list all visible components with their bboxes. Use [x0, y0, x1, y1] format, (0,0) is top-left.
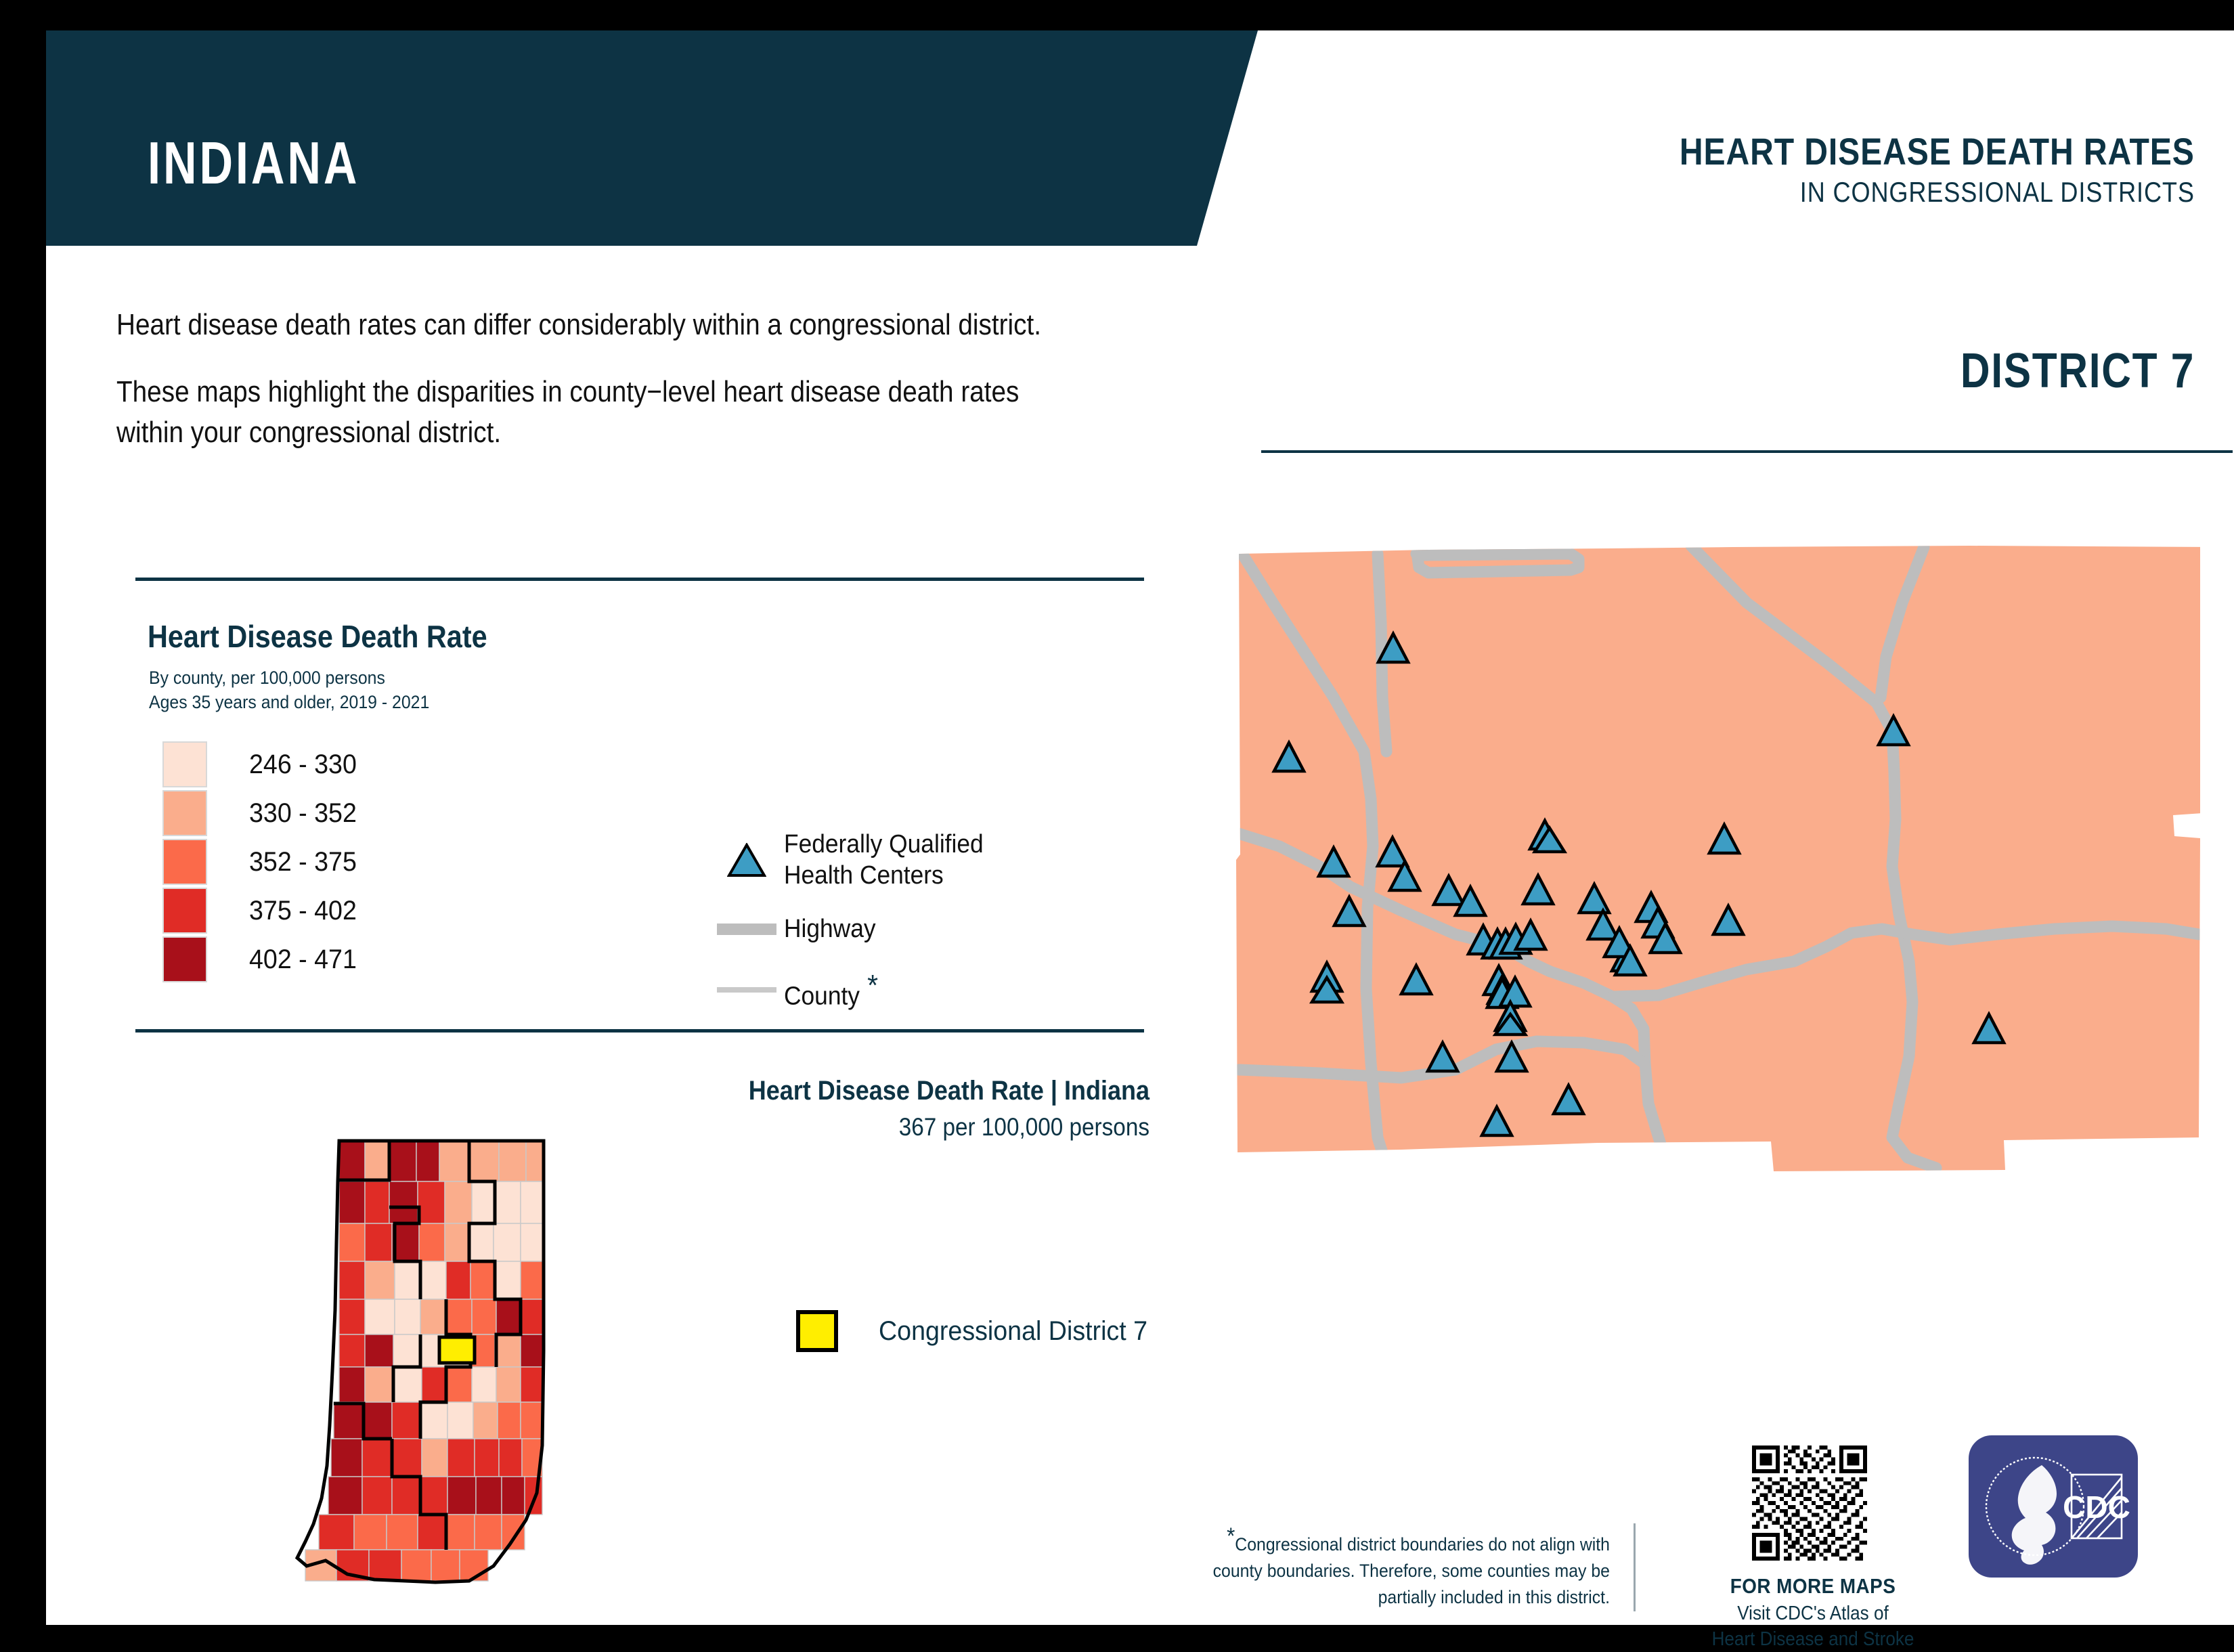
- header-banner: INDIANA: [46, 30, 1258, 246]
- fqhc-label-line2: Health Centers: [784, 861, 984, 892]
- legend-county: County*: [709, 968, 999, 1012]
- footnote-star: *: [1227, 1523, 1235, 1549]
- intro-paragraph-1: Heart disease death rates can differ con…: [116, 305, 1046, 346]
- indiana-state-inset-map[interactable]: [266, 1127, 550, 1588]
- intro-text: Heart disease death rates can differ con…: [116, 305, 1046, 454]
- highway-line-icon: [709, 923, 784, 935]
- legend-fqhc-label: Federally Qualified Health Centers: [784, 829, 984, 891]
- qr-code[interactable]: [1752, 1445, 1867, 1561]
- legend-class-0: 246 - 330: [162, 740, 364, 789]
- legend-swatch: [162, 741, 207, 787]
- state-title: INDIANA: [148, 129, 359, 198]
- legend-class-label: 330 - 352: [249, 798, 357, 829]
- district-heading: DISTRICT 7: [1961, 343, 2195, 399]
- for-more-maps-sub: Visit CDC's Atlas ofHeart Disease and St…: [1709, 1601, 1917, 1652]
- county-line-icon: [709, 987, 784, 993]
- legend-class-label: 402 - 471: [249, 944, 357, 975]
- cdc-hhs-logo: CDC: [1969, 1435, 2138, 1578]
- legend-class-2: 352 - 375: [162, 838, 364, 886]
- legend-swatch: [162, 888, 207, 934]
- poster-canvas: INDIANA HEART DISEASE DEATH RATES IN CON…: [46, 30, 2234, 1625]
- footer-divider: [1634, 1523, 1636, 1611]
- poster-page: INDIANA HEART DISEASE DEATH RATES IN CON…: [0, 0, 2234, 1625]
- district-key-label: Congressional District 7: [879, 1316, 1147, 1347]
- footnote: *Congressional district boundaries do no…: [1205, 1520, 1610, 1611]
- legend-subtitle-line2: Ages 35 years and older, 2019 - 2021: [149, 690, 429, 714]
- legend-class-4: 402 - 471: [162, 935, 364, 984]
- legend-top-divider: [135, 578, 1144, 581]
- for-more-maps-title: FOR MORE MAPS: [1709, 1574, 1917, 1599]
- intro-paragraph-2: These maps highlight the disparities in …: [116, 372, 1046, 454]
- congressional-district-key: Congressional District 7: [796, 1310, 1164, 1352]
- legend-swatch: [162, 936, 207, 982]
- legend-swatch: [162, 839, 207, 885]
- legend-subtitle-line1: By county, per 100,000 persons: [149, 666, 429, 690]
- legend-highway: Highway: [709, 914, 999, 945]
- header-titles: HEART DISEASE DEATH RATES IN CONGRESSION…: [1596, 132, 2195, 207]
- color-ramp-legend: 246 - 330 330 - 352 352 - 375 375 - 402 …: [162, 740, 364, 984]
- inset-title-line2: 367 per 100,000 persons: [522, 1113, 1149, 1142]
- legend-subtitle: By county, per 100,000 persons Ages 35 y…: [149, 666, 429, 715]
- county-footnote-star: *: [867, 969, 878, 1002]
- legend-highway-label: Highway: [784, 914, 876, 945]
- legend-class-label: 352 - 375: [249, 847, 357, 877]
- legend-class-label: 375 - 402: [249, 896, 357, 926]
- county-label-text: County: [784, 982, 860, 1010]
- legend-title: Heart Disease Death Rate: [148, 618, 487, 655]
- symbol-legend: Federally Qualified Health Centers Highw…: [709, 829, 999, 1035]
- page-title: HEART DISEASE DEATH RATES: [1680, 132, 2195, 172]
- district-key-swatch: [796, 1310, 838, 1352]
- legend-county-label: County*: [784, 968, 878, 1012]
- page-subtitle: IN CONGRESSIONAL DISTRICTS: [1680, 177, 2195, 207]
- fqhc-triangle-icon: [709, 843, 784, 878]
- legend-class-label: 246 - 330: [249, 749, 357, 780]
- district-detail-map[interactable]: [1232, 528, 2200, 1178]
- inset-title: Heart Disease Death Rate | Indiana 367 p…: [452, 1076, 1149, 1142]
- inset-title-line1: Heart Disease Death Rate | Indiana: [522, 1076, 1149, 1106]
- legend-class-3: 375 - 402: [162, 886, 364, 935]
- legend-fqhc: Federally Qualified Health Centers: [709, 829, 999, 891]
- legend-class-1: 330 - 352: [162, 789, 364, 838]
- district-divider: [1261, 450, 2233, 453]
- legend-swatch: [162, 790, 207, 836]
- fqhc-label-line1: Federally Qualified: [784, 829, 984, 861]
- cdc-logo-text: CDC: [2063, 1490, 2130, 1525]
- footnote-text: Congressional district boundaries do not…: [1213, 1534, 1610, 1607]
- highlighted-district-county: [439, 1337, 475, 1363]
- for-more-maps: FOR MORE MAPS Visit CDC's Atlas ofHeart …: [1698, 1574, 1928, 1652]
